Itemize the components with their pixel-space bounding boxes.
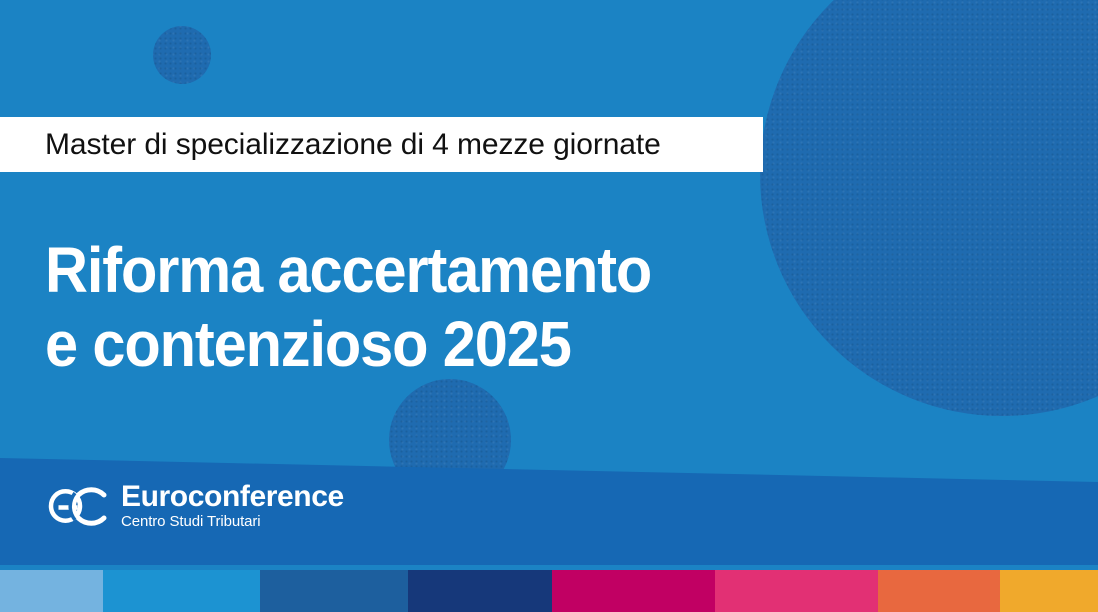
logo-wordmark: Euroconference Centro Studi Tributari xyxy=(121,481,344,531)
euroconference-logo: Euroconference Centro Studi Tributari xyxy=(45,481,344,531)
color-stripe-swatch-orange xyxy=(878,570,1000,612)
color-stripe-swatch-amber xyxy=(1000,570,1098,612)
page-title-line-2: e contenzioso 2025 xyxy=(45,307,789,381)
ec-monogram-icon xyxy=(45,483,107,529)
color-stripe-swatch-pink xyxy=(715,570,878,612)
logo-tagline: Centro Studi Tributari xyxy=(121,512,344,531)
eyebrow-label: Master di specializzazione di 4 mezze gi… xyxy=(0,130,661,160)
decorative-circle-small-icon xyxy=(153,26,211,84)
color-stripe xyxy=(0,570,1098,612)
color-stripe-swatch-azure-blue xyxy=(103,570,260,612)
color-stripe-swatch-light-blue xyxy=(0,570,103,612)
color-stripe-swatch-steel-blue xyxy=(260,570,408,612)
page-title-line-1: Riforma accertamento xyxy=(45,233,789,307)
decorative-circle-large-icon xyxy=(760,0,1098,416)
page-title: Riforma accertamento e contenzioso 2025 xyxy=(45,233,789,381)
eyebrow-banner: Master di specializzazione di 4 mezze gi… xyxy=(0,117,763,172)
color-stripe-swatch-magenta xyxy=(552,570,715,612)
grain-texture xyxy=(153,26,211,84)
color-stripe-swatch-navy-blue xyxy=(408,570,552,612)
promo-banner: Master di specializzazione di 4 mezze gi… xyxy=(0,0,1098,612)
grain-texture xyxy=(760,0,1098,416)
logo-name: Euroconference xyxy=(121,481,344,512)
